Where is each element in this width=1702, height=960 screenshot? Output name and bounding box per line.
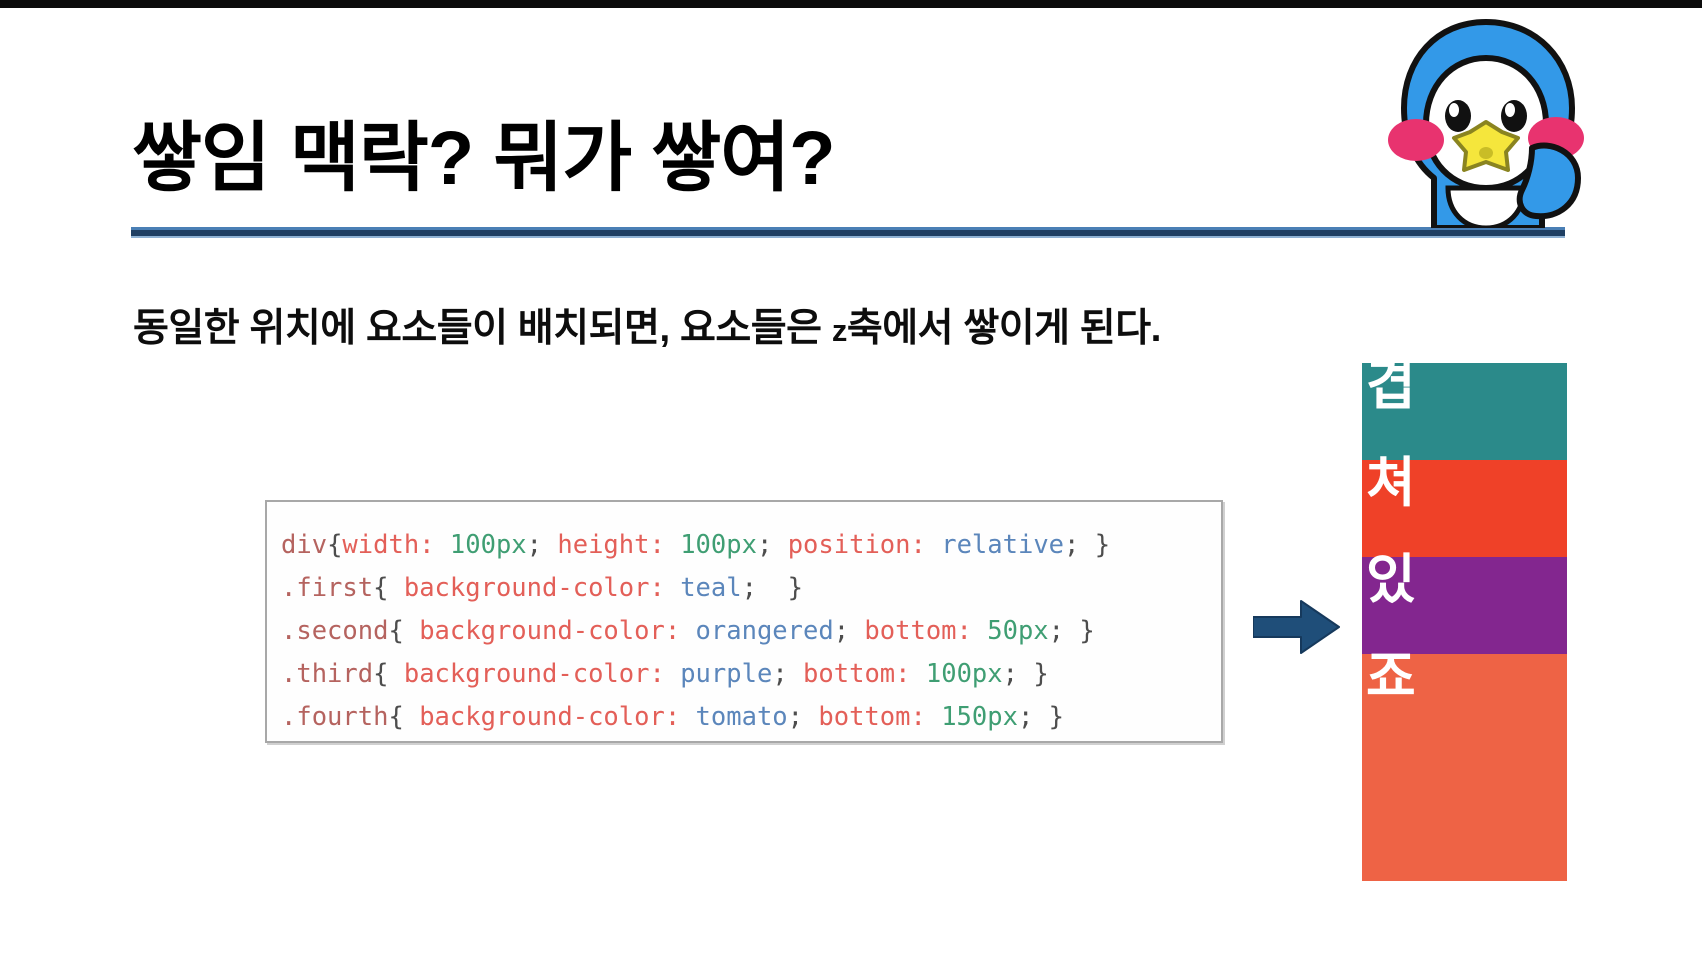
stack-block-third: 있 [1362, 557, 1567, 654]
code-token-punct: ; [788, 702, 819, 732]
code-token-punct: ; [772, 659, 803, 689]
stack-block-fourth: 죠 [1362, 654, 1567, 881]
stack-block-second: 쳐 [1362, 460, 1567, 557]
code-token-punct: { [388, 616, 419, 646]
code-token-punct: { [327, 530, 342, 560]
code-line: .second{ background-color: orangered; bo… [281, 610, 1221, 653]
code-token-property: background-color: [419, 616, 695, 646]
stack-block-label: 죠 [1366, 648, 1415, 707]
code-token-number: 150px [941, 702, 1018, 732]
css-code-block: div{width: 100px; height: 100px; positio… [265, 500, 1223, 743]
stack-block-first: 겹 [1362, 363, 1567, 460]
stack-block-label: 쳐 [1366, 454, 1415, 513]
code-token-property: height: [557, 530, 680, 560]
subtitle-axis-letter: z [832, 313, 847, 348]
code-token-selector: .first [281, 573, 373, 603]
code-token-number: 100px [450, 530, 527, 560]
code-token-number: 50px [987, 616, 1048, 646]
penguin-mascot-icon [1382, 12, 1590, 228]
code-token-punct: { [373, 573, 404, 603]
code-token-punct: ; } [742, 573, 803, 603]
code-token-punct: ; } [1049, 616, 1095, 646]
code-token-property: bottom: [803, 659, 926, 689]
code-token-keyword: tomato [696, 702, 788, 732]
divider-pale-stripe [131, 236, 1565, 238]
code-line: div{width: 100px; height: 100px; positio… [281, 524, 1221, 567]
code-token-number: 100px [926, 659, 1003, 689]
code-token-punct: ; [527, 530, 558, 560]
code-line: .third{ background-color: purple; bottom… [281, 653, 1221, 696]
code-token-selector: .second [281, 616, 388, 646]
code-line: .first{ background-color: teal; } [281, 567, 1221, 610]
stacking-blocks-diagram: 겹쳐있죠 [1362, 363, 1567, 881]
code-token-number: 100px [680, 530, 757, 560]
subtitle-part-leading: 동일한 위치에 요소들이 배치되면, 요소들은 [133, 307, 832, 350]
page-title: 쌓임 맥락? 뭐가 쌓여? [132, 113, 1232, 206]
top-letterbox-bar [0, 0, 1702, 8]
code-token-punct: ; } [1003, 659, 1049, 689]
code-line: .fourth{ background-color: tomato; botto… [281, 696, 1221, 739]
code-token-property: bottom: [864, 616, 987, 646]
code-token-keyword: purple [680, 659, 772, 689]
code-token-property: width: [342, 530, 449, 560]
code-token-punct: { [373, 659, 404, 689]
code-token-property: background-color: [404, 573, 680, 603]
code-token-punct: ; [757, 530, 788, 560]
subtitle-part-trailing: 축에서 쌓이게 된다. [847, 307, 1161, 350]
code-token-property: bottom: [818, 702, 941, 732]
code-token-selector: .fourth [281, 702, 388, 732]
code-token-punct: ; } [1018, 702, 1064, 732]
slide-canvas: 쌓임 맥락? 뭐가 쌓여? 동일한 위치에 요소들이 배치되면, 요소들은 z축… [0, 0, 1702, 960]
code-token-punct: ; } [1064, 530, 1110, 560]
code-token-property: background-color: [419, 702, 695, 732]
subtitle: 동일한 위치에 요소들이 배치되면, 요소들은 z축에서 쌓이게 된다. [133, 297, 1161, 353]
code-token-property: background-color: [404, 659, 680, 689]
code-token-punct: { [388, 702, 419, 732]
code-token-selector: .third [281, 659, 373, 689]
code-token-selector: div [281, 530, 327, 560]
stack-block-label: 겹 [1366, 357, 1415, 416]
code-token-keyword: relative [941, 530, 1064, 560]
code-token-keyword: teal [680, 573, 741, 603]
right-arrow-icon [1253, 599, 1341, 655]
code-token-keyword: orangered [696, 616, 834, 646]
code-token-property: position: [788, 530, 942, 560]
code-token-punct: ; [834, 616, 865, 646]
stack-block-label: 있 [1366, 551, 1415, 610]
title-divider [131, 227, 1565, 238]
